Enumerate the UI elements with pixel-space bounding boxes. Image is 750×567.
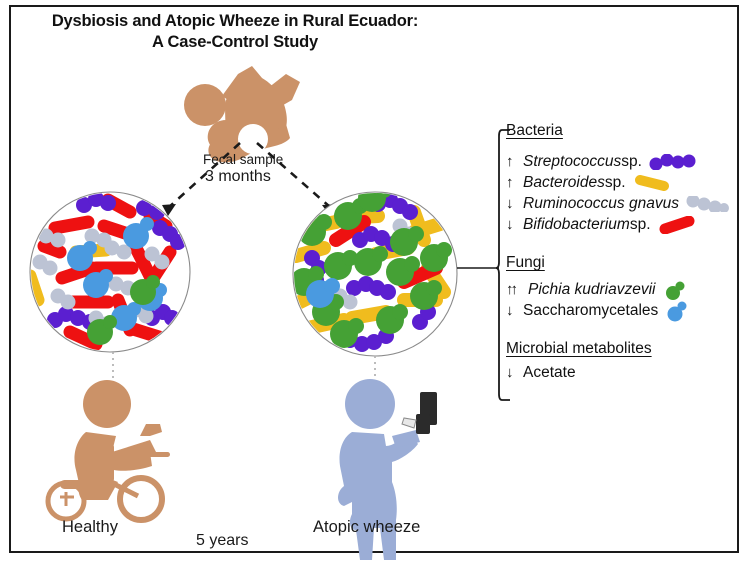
- graphical-abstract: Dysbiosis and Atopic Wheeze in Rural Ecu…: [0, 0, 750, 567]
- healthy-group-label: Healthy: [62, 518, 118, 537]
- crawling-infant-icon: [184, 66, 300, 162]
- legend-heading-bacteria: Bacteria: [506, 122, 746, 140]
- blue-budding-yeast-icon: [665, 300, 691, 322]
- grey-cocci-chain-icon: [686, 196, 730, 212]
- legend-row-acetate: ↓ Acetate: [506, 362, 746, 383]
- taxon-suffix: sp.: [621, 153, 642, 171]
- legend-row-pichia: ↑↑ Pichia kudriavzevii: [506, 279, 746, 300]
- legend-panel: Bacteria ↑ Streptococcus sp. ↑ Bacteroid…: [506, 122, 746, 383]
- purple-cocci-chain-icon: [649, 154, 697, 170]
- legend-row-saccharomycetales: ↓ Saccharomycetales: [506, 300, 746, 321]
- up-arrow-icon: ↑: [506, 175, 523, 190]
- green-budding-yeast-icon: [663, 280, 689, 300]
- arrowheads: [162, 204, 336, 216]
- metabolite-name: Acetate: [523, 364, 576, 382]
- taxon-name: Bacteroides: [523, 174, 605, 192]
- down-arrow-icon: ↓: [506, 303, 523, 318]
- taxon-name: Saccharomycetales: [523, 302, 658, 320]
- legend-row-bifidobacterium: ↓ Bifidobacterium sp.: [506, 214, 746, 235]
- dotted-drop-lines: [113, 352, 375, 392]
- atopic-group-label: Atopic wheeze: [313, 518, 420, 537]
- fecal-sample-label: Fecal sample: [203, 152, 283, 167]
- legend-heading-metabolites: Microbial metabolites: [506, 340, 746, 358]
- inhaler-icon: [402, 392, 437, 434]
- up-arrow-icon: ↑: [506, 154, 523, 169]
- taxon-name: Bifidobacterium: [523, 216, 630, 234]
- taxon-name: Streptococcus: [523, 153, 621, 171]
- red-rod-icon: [658, 216, 698, 234]
- taxon-suffix: sp.: [630, 216, 651, 234]
- yellow-rod-icon: [633, 175, 673, 191]
- taxon-name: Pichia kudriavzevii: [528, 281, 656, 299]
- down-arrow-icon: ↓: [506, 365, 523, 380]
- taxon-name: Ruminococcus gnavus: [523, 195, 679, 213]
- legend-row-streptococcus: ↑ Streptococcus sp.: [506, 151, 746, 172]
- taxon-suffix: sp.: [605, 174, 626, 192]
- child-on-bicycle-icon: [48, 380, 170, 520]
- down-arrow-icon: ↓: [506, 196, 523, 211]
- legend-heading-fungi: Fungi: [506, 254, 746, 272]
- down-arrow-icon: ↓: [506, 217, 523, 232]
- legend-row-bacteroides: ↑ Bacteroides sp.: [506, 172, 746, 193]
- double-up-arrow-icon: ↑↑: [506, 282, 528, 297]
- sample-time-label: 3 months: [205, 168, 271, 186]
- legend-row-ruminococcus: ↓ Ruminococcus gnavus: [506, 193, 746, 214]
- followup-label: 5 years: [196, 532, 248, 550]
